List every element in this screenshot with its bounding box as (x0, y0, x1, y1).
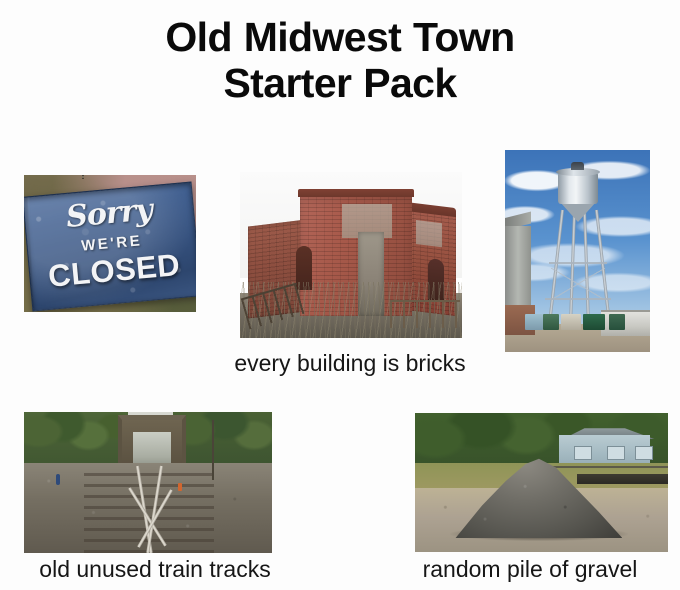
house-window-2 (607, 446, 625, 460)
fence (547, 466, 668, 468)
parapet-front (298, 189, 414, 197)
caption-random-pile-of-gravel: random pile of gravel (380, 556, 680, 582)
stucco-patch-side (416, 220, 442, 247)
storage-bin-3 (561, 314, 581, 330)
storage-bin-4 (583, 314, 605, 330)
gravel-pile-photo (415, 413, 668, 552)
tower-cross-bracing (551, 268, 605, 300)
page-title: Old Midwest Town Starter Pack (0, 14, 680, 106)
storage-bin-2 (543, 314, 559, 330)
brick-building-photo (240, 172, 462, 338)
water-tower-photo (505, 150, 650, 352)
sign-chain (82, 175, 84, 179)
closed-sign-photo: Sorry WE'RE CLOSED (24, 175, 196, 312)
storage-bin-5 (609, 314, 625, 330)
house-window-1 (574, 446, 592, 460)
caption-old-unused-train-tracks: old unused train tracks (0, 556, 310, 582)
storage-bin-1 (525, 314, 543, 330)
tower-brace-upper (549, 262, 607, 264)
tower-brace-lower (545, 298, 611, 300)
traffic-cone (178, 483, 182, 491)
water-tank (558, 172, 598, 204)
fence (390, 300, 460, 328)
title-line-1: Old Midwest Town (0, 14, 680, 60)
train-tracks-photo (24, 412, 272, 553)
person (56, 474, 60, 485)
tank-cone (560, 202, 596, 222)
caption-every-building-is-bricks: every building is bricks (190, 350, 510, 376)
dark-ground-strip (577, 474, 668, 484)
sign-board: Sorry WE'RE CLOSED (24, 182, 196, 312)
utility-pole (212, 420, 214, 479)
house-window-3 (635, 446, 653, 460)
tank-vent-cap (571, 162, 584, 170)
title-line-2: Starter Pack (0, 60, 680, 106)
